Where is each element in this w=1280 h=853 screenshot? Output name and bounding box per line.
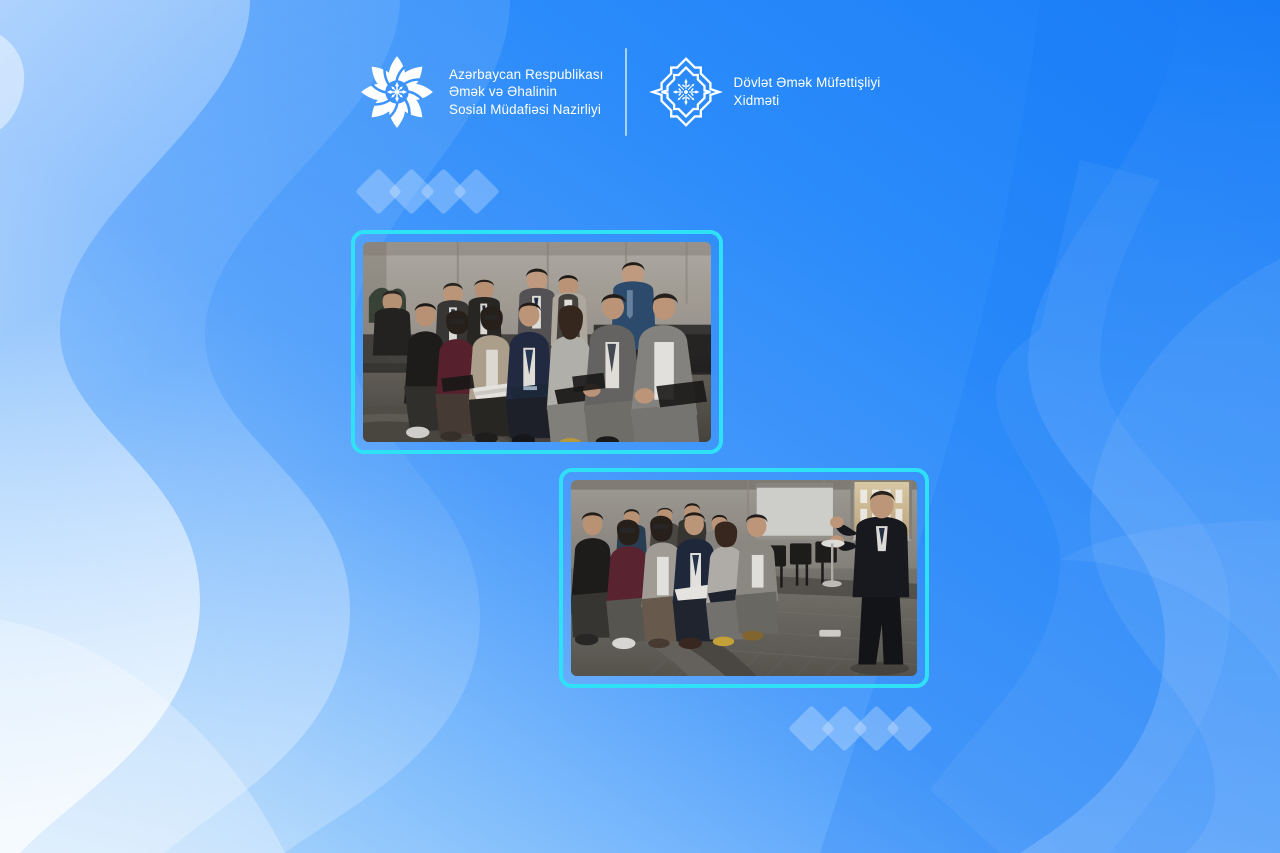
azerbaijan-ministry-eight-point-star-logo-icon	[358, 53, 436, 131]
diamond-ornament-row-bottom	[795, 712, 925, 745]
vertical-divider-icon	[625, 48, 627, 136]
state-labour-inspection-diamond-logo-icon	[649, 55, 723, 129]
inspection-logo-group: Dövlət Əmək Müfəttişliyi Xidməti	[649, 55, 881, 129]
ministry-name-label: Azərbaycan Respublikası Əmək və Əhalinin…	[449, 66, 604, 119]
photo-card-audience[interactable]	[351, 230, 723, 454]
photo-card-speaker[interactable]	[559, 468, 929, 688]
header-logo-lockup: Azərbaycan Respublikası Əmək və Əhalinin…	[358, 44, 880, 140]
ministry-logo-group: Azərbaycan Respublikası Əmək və Əhalinin…	[358, 53, 604, 131]
banner-stage: Azərbaycan Respublikası Əmək və Əhalinin…	[0, 0, 1280, 853]
inspection-name-label: Dövlət Əmək Müfəttişliyi Xidməti	[734, 74, 881, 109]
diamond-ornament-row-top	[362, 175, 492, 208]
photo-seminar-speaker-icon	[571, 480, 917, 676]
photo-seminar-audience-icon	[363, 242, 711, 442]
